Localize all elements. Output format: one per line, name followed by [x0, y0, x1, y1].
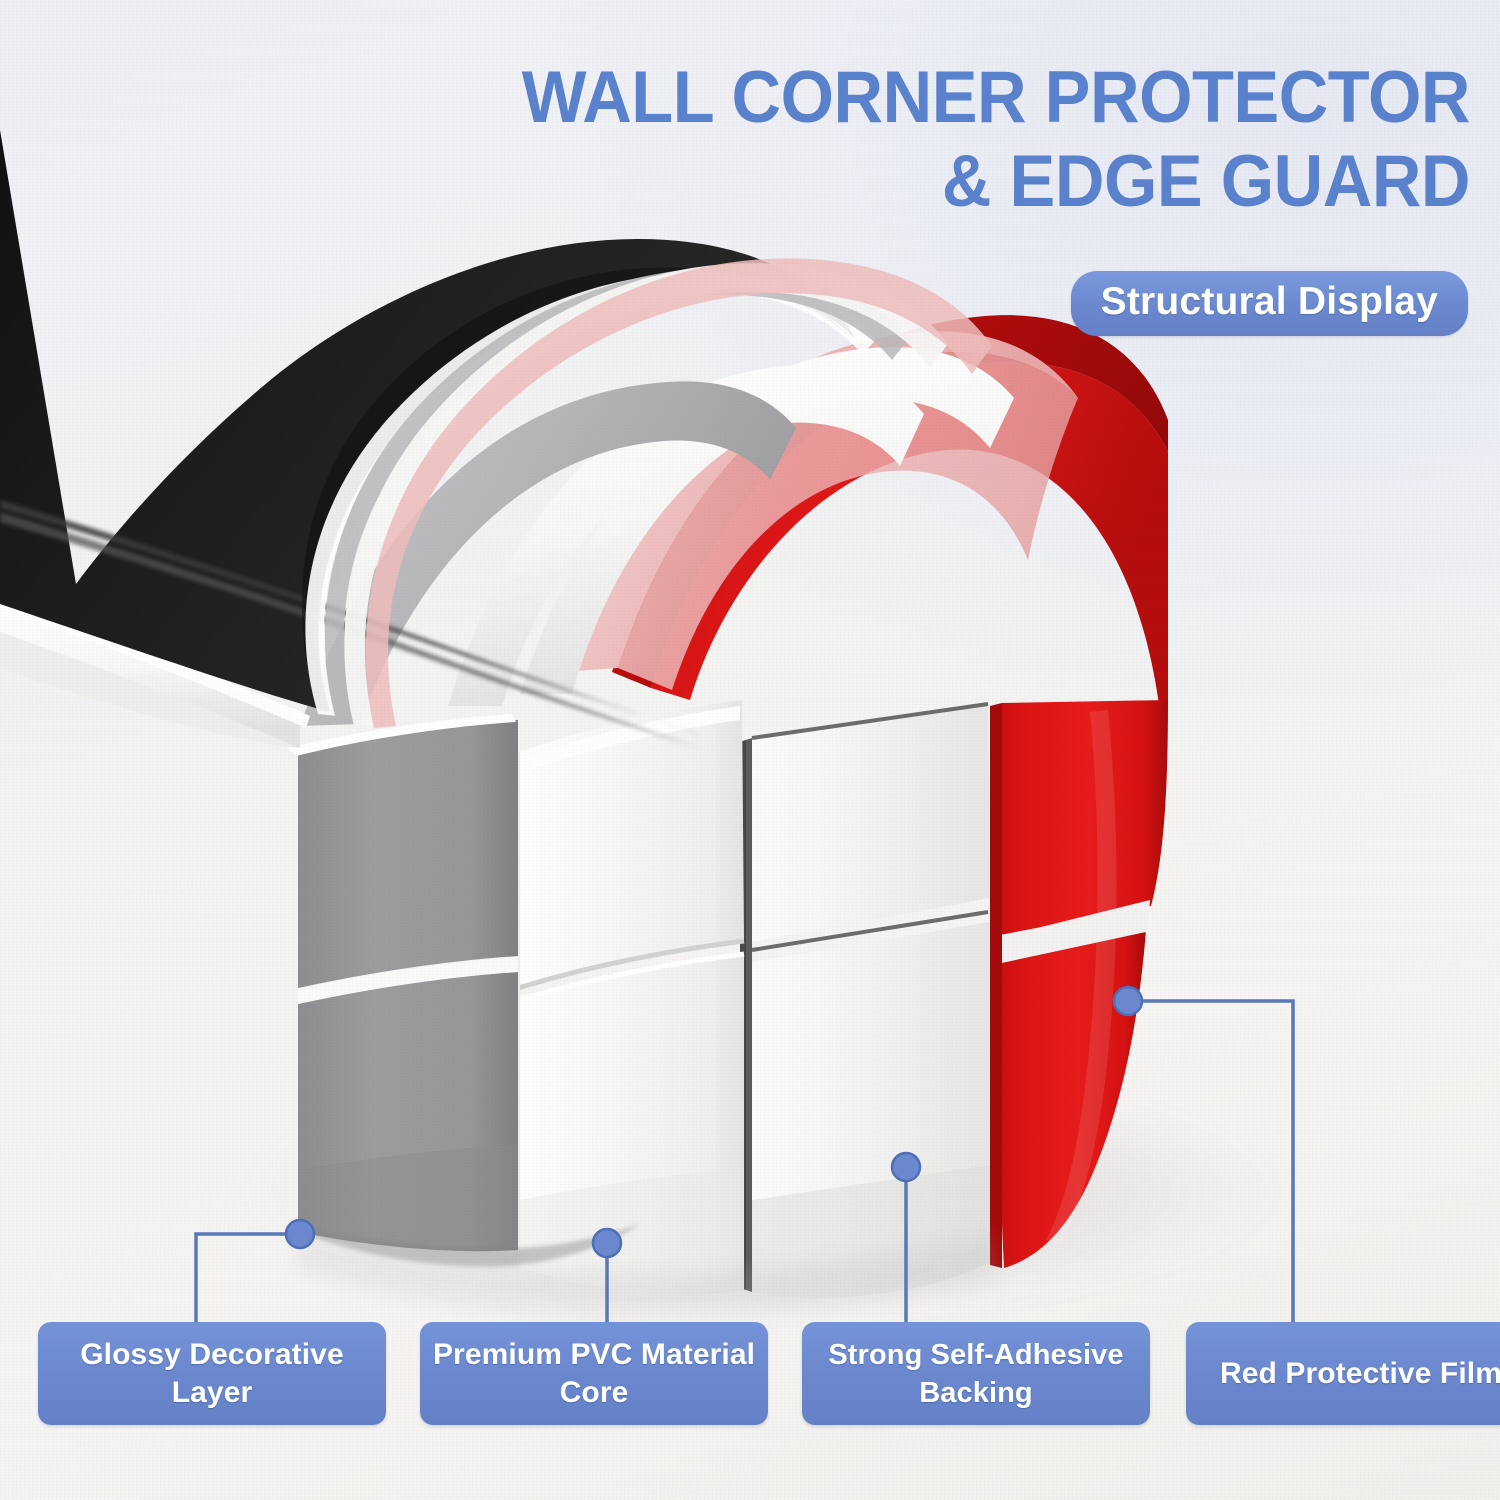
connector-premium-pvc-material-core [593, 1229, 621, 1322]
callout-dot-icon [593, 1229, 621, 1257]
title-line-2: & EDGE GUARD [88, 140, 1470, 224]
callout-premium-pvc-material-core: Premium PVC Material Core [420, 1322, 768, 1425]
callout-dot-icon [1114, 987, 1142, 1015]
callout-strong-self-adhesive-backing: Strong Self-Adhesive Backing [802, 1322, 1150, 1425]
connector-red-protective-film [1114, 987, 1293, 1322]
infographic-canvas: WALL CORNER PROTECTOR & EDGE GUARD Struc… [0, 0, 1500, 1500]
structural-display-badge: Structural Display [1071, 271, 1468, 336]
callout-red-protective-film: Red Protective Film [1186, 1322, 1500, 1425]
callout-dot-icon [892, 1153, 920, 1181]
page-title: WALL CORNER PROTECTOR & EDGE GUARD [0, 56, 1470, 224]
callout-connectors [0, 0, 1500, 1500]
callout-label: Glossy Decorative Layer [38, 1336, 386, 1412]
callout-glossy-decorative-layer: Glossy Decorative Layer [38, 1322, 386, 1425]
title-line-1: WALL CORNER PROTECTOR [88, 56, 1470, 140]
connector-glossy-decorative-layer [196, 1220, 314, 1322]
connector-strong-self-adhesive-backing [892, 1153, 920, 1322]
callout-label: Strong Self-Adhesive Backing [802, 1336, 1150, 1412]
callout-label: Red Protective Film [1212, 1355, 1500, 1393]
callout-dot-icon [286, 1220, 314, 1248]
structural-display-badge-label: Structural Display [1101, 280, 1438, 324]
callout-label: Premium PVC Material Core [420, 1336, 768, 1412]
